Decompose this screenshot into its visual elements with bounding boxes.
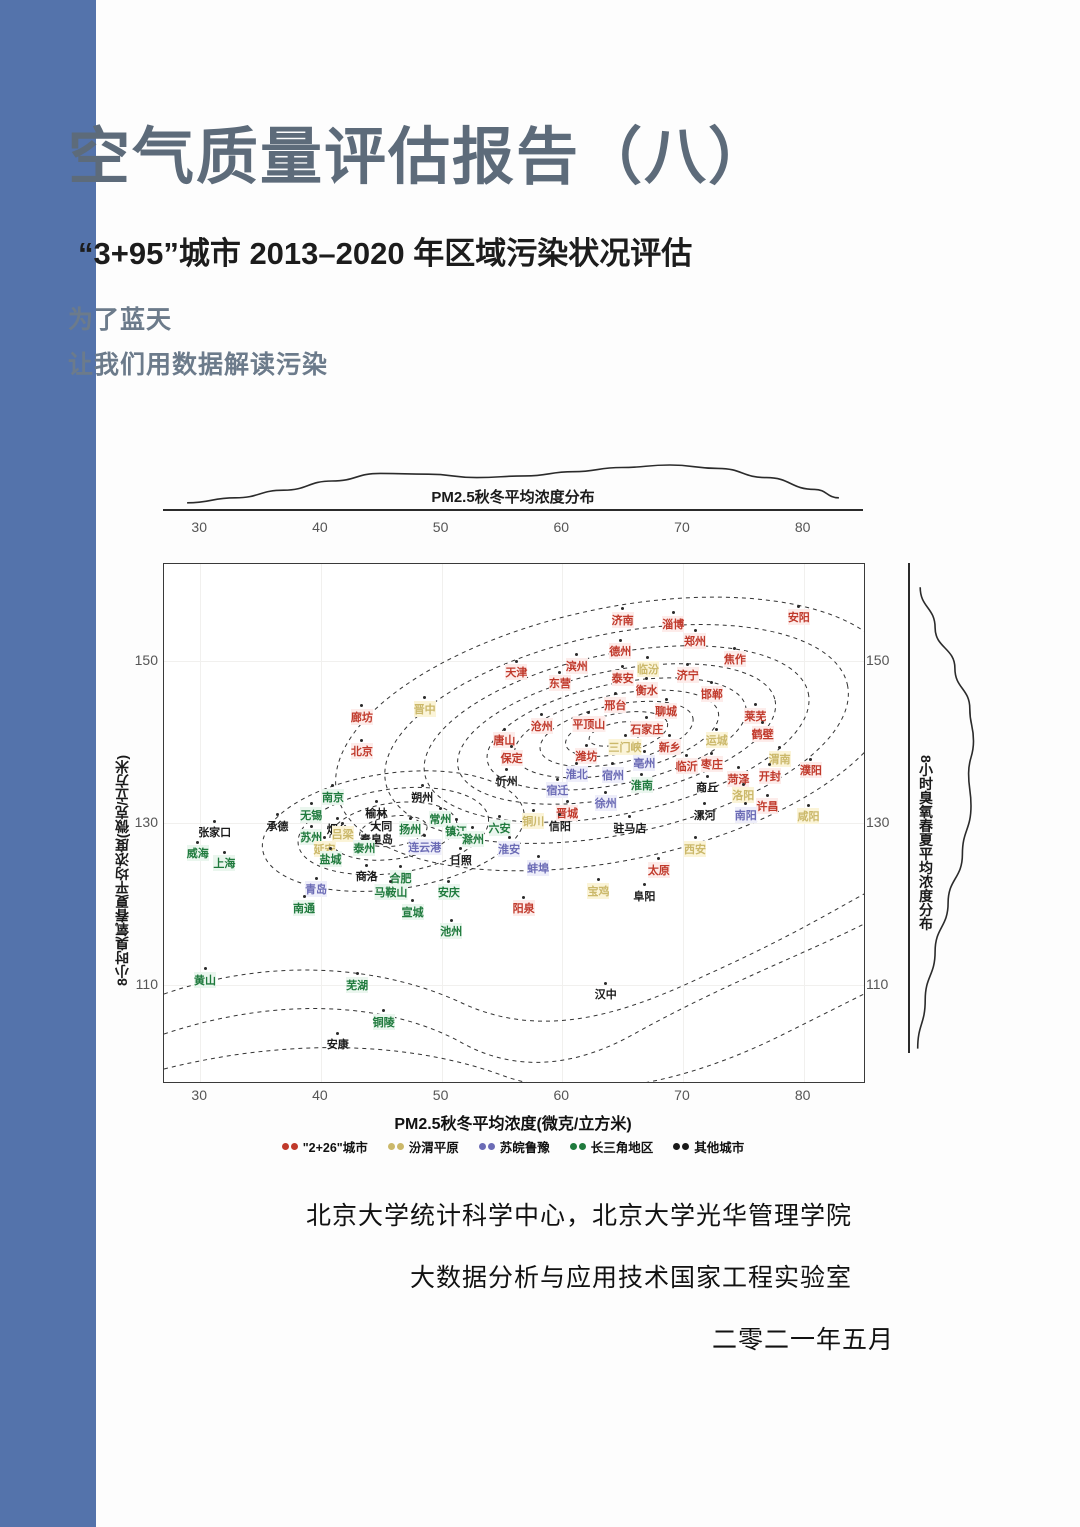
legend-dot xyxy=(682,1143,689,1150)
legend-dot xyxy=(397,1143,404,1150)
scatter-point-label: 朔州 xyxy=(411,789,433,805)
scatter-point-label: 南京 xyxy=(322,789,344,805)
legend-label: 其他城市 xyxy=(694,1137,744,1156)
scatter-point-label: 濮阳 xyxy=(800,762,822,778)
axis-tick: 150 xyxy=(866,652,906,668)
scatter-point-label: 上海 xyxy=(213,855,235,871)
scatter-point-label: 西安 xyxy=(684,841,706,857)
scatter-point xyxy=(575,762,578,765)
scatter-point-label: 渭南 xyxy=(769,751,791,767)
legend-dot xyxy=(388,1143,395,1150)
y-axis-label-left: 8小时臭氧春夏平均浓度(微克/立方米) xyxy=(112,755,132,986)
legend-label: 苏皖鲁豫 xyxy=(500,1137,550,1156)
legend-item-2[interactable]: 苏皖鲁豫 xyxy=(479,1137,550,1156)
scatter-point-label: 亳州 xyxy=(633,755,655,771)
scatter-point-label: 无锡 xyxy=(300,807,322,823)
axis-tick: 130 xyxy=(866,814,906,830)
scatter-point-label: 许昌 xyxy=(756,798,778,814)
scatter-point-label: 宣城 xyxy=(402,904,424,920)
scatter-point xyxy=(797,605,800,608)
axis-tick: 30 xyxy=(191,1087,207,1103)
scatter-point xyxy=(329,847,332,850)
scatter-point xyxy=(409,817,412,820)
axis-tick: 70 xyxy=(674,519,690,535)
scatter-point-label: 临汾 xyxy=(637,661,659,677)
scatter-point-label: 铜川 xyxy=(522,813,544,829)
scatter-point-label: 威海 xyxy=(187,845,209,861)
footer-line-1: 北京大学统计科学中心，北京大学光华管理学院 xyxy=(306,1196,852,1232)
scatter-point-label: 邢台 xyxy=(604,697,626,713)
scatter-point-label: 菏泽 xyxy=(727,771,749,787)
scatter-point-label: 咸阳 xyxy=(797,808,819,824)
scatter-point-label: 安康 xyxy=(327,1036,349,1052)
legend-swatch-icon xyxy=(673,1143,689,1150)
scatter-point-label: 枣庄 xyxy=(701,756,723,772)
scatter-point-label: 淄博 xyxy=(662,616,684,632)
scatter-point-label: 商洛 xyxy=(356,868,378,884)
scatter-point xyxy=(223,851,226,854)
scatter-point-label: 淮北 xyxy=(566,766,588,782)
scatter-point-label: 新乡 xyxy=(659,739,681,755)
scatter-point-label: 泰安 xyxy=(612,670,634,686)
scatter-point-label: 邯郸 xyxy=(701,686,723,702)
scatter-point xyxy=(694,629,697,632)
scatter-point xyxy=(619,639,622,642)
axis-tick: 150 xyxy=(118,652,158,668)
scatter-point xyxy=(766,794,769,797)
scatter-point-label: 保定 xyxy=(501,750,523,766)
chart-legend: "2+26"城市汾渭平原苏皖鲁豫长三角地区其他城市 xyxy=(163,1137,863,1156)
scatter-point-label: 三门峡 xyxy=(609,739,642,755)
legend-item-3[interactable]: 长三角地区 xyxy=(570,1137,654,1156)
scatter-point xyxy=(807,804,810,807)
scatter-point-label: 黄山 xyxy=(194,972,216,988)
scatter-point-label: 青岛 xyxy=(305,881,327,897)
scatter-point-label: 芜湖 xyxy=(346,977,368,993)
scatter-point-label: 宿迁 xyxy=(546,782,568,798)
scatter-point xyxy=(694,836,697,839)
legend-swatch-icon xyxy=(282,1143,298,1150)
axis-tick: 110 xyxy=(866,976,906,992)
scatter-point xyxy=(685,754,688,757)
scatter-point-label: 天津 xyxy=(505,664,527,680)
scatter-point-label: 商丘 xyxy=(696,779,718,795)
figure-scatter-density: PM2.5秋冬平均浓度分布 304050607080 济南淄博安阳郑州德州滨州焦… xyxy=(0,455,1080,1145)
scatter-point-label: 郑州 xyxy=(684,633,706,649)
scatter-point-label: 石家庄 xyxy=(630,721,663,737)
axis-tick: 60 xyxy=(553,519,569,535)
scatter-point-label: 鹤壁 xyxy=(752,726,774,742)
axis-tick: 50 xyxy=(433,519,449,535)
scatter-point xyxy=(556,778,559,781)
scatter-point-label: 临沂 xyxy=(676,758,698,774)
scatter-point xyxy=(643,883,646,886)
scatter-point xyxy=(742,783,745,786)
y-axis-label-right: 8小时臭氧春夏平均浓度分布 xyxy=(916,755,936,931)
scatter-point-label: 北京 xyxy=(351,743,373,759)
scatter-point-label: 济南 xyxy=(612,612,634,628)
scatter-point-label: 徐州 xyxy=(595,795,617,811)
legend-label: 汾渭平原 xyxy=(409,1137,459,1156)
scatter-point-label: 连云港 xyxy=(408,839,441,855)
scatter-point-label: 德州 xyxy=(609,643,631,659)
scatter-point-label: 扬州 xyxy=(399,821,421,837)
scatter-point xyxy=(614,692,617,695)
top-axis-line xyxy=(163,509,863,511)
axis-tick: 40 xyxy=(312,519,328,535)
axis-tick: 80 xyxy=(795,519,811,535)
scatter-point xyxy=(341,822,344,825)
scatter-point xyxy=(356,972,359,975)
scatter-point-label: 阜阳 xyxy=(633,888,655,904)
legend-label: "2+26"城市 xyxy=(303,1137,368,1156)
axis-tick: 70 xyxy=(674,1087,690,1103)
plot-area: 济南淄博安阳郑州德州滨州焦作天津临汾济宁泰安东营衡水邯郸邢台聊城莱芜廊坊晋中沧州… xyxy=(163,563,865,1083)
scatter-point xyxy=(310,825,313,828)
scatter-point-label: 宿州 xyxy=(602,767,624,783)
legend-dot xyxy=(479,1143,486,1150)
scatter-point-label: 信阳 xyxy=(549,818,571,834)
top-marginal-density: PM2.5秋冬平均浓度分布 304050607080 xyxy=(163,465,863,543)
scatter-point-label: 沧州 xyxy=(531,718,553,734)
scatter-point-label: 南阳 xyxy=(735,807,757,823)
scatter-point xyxy=(204,967,207,970)
scatter-point xyxy=(336,817,339,820)
scatter-point-label: 廊坊 xyxy=(351,709,373,725)
scatter-point xyxy=(455,818,458,821)
legend-label: 长三角地区 xyxy=(591,1137,654,1156)
axis-tick: 110 xyxy=(118,976,158,992)
scatter-point xyxy=(365,864,368,867)
scatter-point xyxy=(585,744,588,747)
axis-tick: 60 xyxy=(553,1087,569,1103)
scatter-point xyxy=(310,802,313,805)
scatter-point xyxy=(672,611,675,614)
scatter-point xyxy=(303,895,306,898)
scatter-point-label: 承德 xyxy=(266,818,288,834)
footer-line-2: 大数据分析与应用技术国家工程实验室 xyxy=(410,1258,852,1294)
scatter-point-label: 潍坊 xyxy=(575,748,597,764)
scatter-point-label: 淮安 xyxy=(498,841,520,857)
scatter-point-label: 驻马店 xyxy=(613,820,646,836)
scatter-point-label: 淮南 xyxy=(631,777,653,793)
legend-item-0[interactable]: "2+26"城市 xyxy=(282,1137,368,1156)
scatter-point-label: 晋中 xyxy=(414,701,436,717)
scatter-point-label: 开封 xyxy=(759,768,781,784)
scatter-point-label: 南通 xyxy=(293,900,315,916)
legend-dot xyxy=(488,1143,495,1150)
axis-tick: 50 xyxy=(433,1087,449,1103)
scatter-point xyxy=(604,791,607,794)
contour-ring xyxy=(311,564,864,917)
legend-dot xyxy=(291,1143,298,1150)
scatter-point-label: 盐城 xyxy=(320,851,342,867)
legend-item-1[interactable]: 汾渭平原 xyxy=(388,1137,459,1156)
scatter-point-label: 聊城 xyxy=(655,703,677,719)
scatter-point-label: 蚌埠 xyxy=(527,860,549,876)
scatter-point-label: 安阳 xyxy=(788,609,810,625)
contour-path xyxy=(164,924,864,1062)
scatter-point-label: 宝鸡 xyxy=(587,883,609,899)
scatter-point-label: 太原 xyxy=(648,862,670,878)
scatter-point-label: 日照 xyxy=(450,852,472,868)
legend-item-4[interactable]: 其他城市 xyxy=(673,1137,744,1156)
scatter-point-label: 滨州 xyxy=(566,658,588,674)
scatter-point xyxy=(706,775,709,778)
scatter-point-label: 东营 xyxy=(549,675,571,691)
scatter-point-label: 运城 xyxy=(706,732,728,748)
scatter-point xyxy=(604,982,607,985)
scatter-point xyxy=(715,728,718,731)
x-axis-label: PM2.5秋冬平均浓度(微克/立方米) xyxy=(163,1110,863,1134)
scatter-point xyxy=(532,809,535,812)
scatter-point-label: 漯河 xyxy=(694,807,716,823)
scatter-point-label: 马鞍山 xyxy=(374,884,407,900)
top-marginal-title: PM2.5秋冬平均浓度分布 xyxy=(163,486,863,507)
scatter-point xyxy=(624,734,627,737)
contour-ring xyxy=(365,587,864,881)
scatter-point xyxy=(515,660,518,663)
scatter-point xyxy=(450,919,453,922)
axis-tick: 40 xyxy=(312,1087,328,1103)
scatter-point-label: 忻州 xyxy=(496,773,518,789)
axis-tick: 30 xyxy=(191,519,207,535)
axis-tick: 130 xyxy=(118,814,158,830)
scatter-point xyxy=(315,877,318,880)
scatter-point-label: 平顶山 xyxy=(572,716,605,732)
scatter-point-label: 泰州 xyxy=(353,840,375,856)
contour-path xyxy=(164,994,864,1082)
scatter-point xyxy=(439,807,442,810)
legend-swatch-icon xyxy=(479,1143,495,1150)
page-subtitle: “3+95”城市 2013–2020 年区域污染状况评估 xyxy=(78,228,908,273)
scatter-point-label: 池州 xyxy=(440,923,462,939)
footer-line-3: 二零二一年五月 xyxy=(712,1320,894,1356)
tagline-primary: 为了蓝天 xyxy=(68,300,172,336)
tagline-secondary: 让我们用数据解读污染 xyxy=(68,345,328,381)
page-title: 空气质量评估报告（八） xyxy=(68,122,868,193)
scatter-point-label: 阳泉 xyxy=(513,900,535,916)
axis-tick: 80 xyxy=(795,1087,811,1103)
legend-dot xyxy=(579,1143,586,1150)
scatter-point-label: 铜陵 xyxy=(373,1014,395,1030)
scatter-point-label: 六安 xyxy=(489,820,511,836)
legend-swatch-icon xyxy=(570,1143,586,1150)
legend-dot xyxy=(570,1143,577,1150)
scatter-point xyxy=(508,836,511,839)
scatter-point-label: 焦作 xyxy=(724,651,746,667)
legend-dot xyxy=(673,1143,680,1150)
scatter-point-label: 张家口 xyxy=(198,824,231,840)
scatter-point-label: 衡水 xyxy=(636,682,658,698)
scatter-point-label: 滁州 xyxy=(462,831,484,847)
scatter-point-label: 安庆 xyxy=(438,884,460,900)
scatter-point-label: 汉中 xyxy=(595,986,617,1002)
legend-swatch-icon xyxy=(388,1143,404,1150)
scatter-point-label: 济宁 xyxy=(677,667,699,683)
scatter-point xyxy=(503,728,506,731)
legend-dot xyxy=(282,1143,289,1150)
scatter-point-label: 洛阳 xyxy=(732,787,754,803)
